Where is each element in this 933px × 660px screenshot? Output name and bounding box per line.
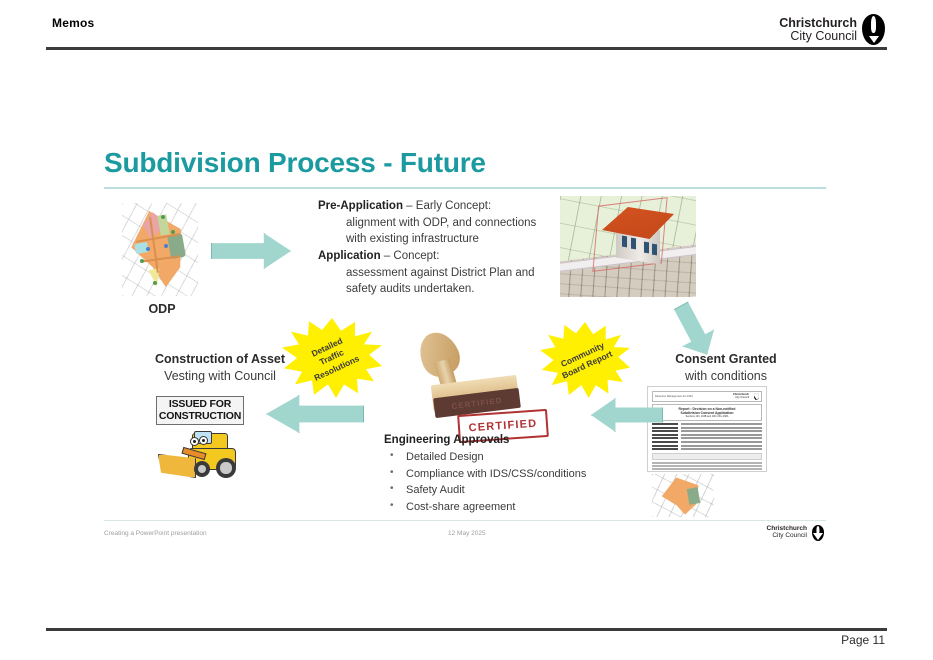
- stamp-pad-text: CERTIFIED: [451, 395, 503, 410]
- odp-label: ODP: [122, 302, 202, 316]
- house-window: [652, 244, 657, 256]
- slide-footer-text: Creating a PowerPoint presentation: [104, 530, 207, 537]
- doc-header-bar: Resource Management Act 1991 Christchurc…: [652, 391, 762, 402]
- doc-logo-line-2: City Council: [735, 397, 749, 400]
- doc-title-line-3: Sections 104, 104B and 108 of the RMA: [686, 415, 729, 418]
- slide-footer-divider: [104, 520, 826, 521]
- map-node-icon: [146, 247, 150, 251]
- application-line3: safety audits undertaken.: [318, 281, 570, 298]
- banner-line-1: ISSUED FOR: [169, 399, 231, 410]
- dozer-eye: [190, 437, 199, 446]
- stamp-impression-text: CERTIFIED: [468, 418, 538, 435]
- header-divider: [46, 47, 887, 50]
- doc-section-heading: [652, 453, 762, 460]
- community-board-report-burst: Community Board Report: [540, 322, 630, 398]
- consent-site-plan-thumbnail: [652, 474, 714, 517]
- pre-application-line3: with existing infrastructure: [318, 231, 570, 248]
- council-emblem-icon: [862, 14, 885, 45]
- doc-field-row: [652, 434, 762, 436]
- application-dash: – Concept:: [381, 250, 440, 262]
- construction-heading: Construction of Asset: [130, 352, 310, 366]
- doc-header-left: Resource Management Act 1991: [655, 395, 693, 398]
- doc-field-row: [652, 427, 762, 429]
- doc-field-rows: [652, 423, 762, 450]
- house-window: [631, 238, 636, 250]
- engineering-approvals-title: Engineering Approvals: [384, 434, 624, 446]
- construction-subheading: Vesting with Council: [130, 369, 310, 383]
- doc-field-row: [652, 445, 762, 447]
- application-text-block: Pre-Application – Early Concept: alignme…: [318, 198, 570, 298]
- slide-logo-line-2: City Council: [772, 533, 807, 540]
- house-window: [644, 242, 649, 254]
- consent-heading: Consent Granted: [636, 352, 816, 366]
- page-number: Page 11: [841, 633, 885, 647]
- doc-council-logo: Christchurch City Council: [733, 393, 759, 400]
- list-item: Cost-share agreement: [384, 499, 624, 516]
- odp-map-thumbnail: [122, 203, 198, 296]
- title-divider: [104, 187, 826, 189]
- map-node-icon: [161, 215, 165, 219]
- slide-image: Subdivision Process - Future ODP Pre-App…: [96, 130, 834, 555]
- application-label: Application: [318, 250, 381, 262]
- subdivision-consent-decision-report: Resource Management Act 1991 Christchurc…: [647, 386, 767, 472]
- engineering-approvals-list: Detailed Design Compliance with IDS/CSS/…: [384, 449, 624, 516]
- list-item: Compliance with IDS/CSS/conditions: [384, 466, 624, 483]
- dozer-wheel: [216, 458, 236, 478]
- map-node-icon: [171, 230, 175, 234]
- dozer-eye: [199, 436, 208, 445]
- banner-line-2: CONSTRUCTION: [159, 411, 241, 422]
- pre-application-line2: alignment with ODP, and connections: [318, 215, 570, 232]
- house-window: [622, 236, 627, 248]
- doc-field-row: [652, 448, 762, 450]
- doc-title: Report : Decision on a Non-notified Subd…: [652, 404, 762, 421]
- application-line2: assessment against District Plan and: [318, 265, 570, 282]
- doc-field-row: [652, 423, 762, 425]
- map-node-icon: [164, 244, 168, 248]
- pre-application-label: Pre-Application: [318, 200, 403, 212]
- slide-title: Subdivision Process - Future: [104, 147, 486, 179]
- issued-for-construction-bulldozer: ISSUED FOR CONSTRUCTION: [150, 392, 248, 487]
- arrow-engineering-to-construction-icon: [266, 395, 364, 433]
- slide-council-emblem-icon: [812, 525, 824, 541]
- page-title: Memos: [52, 16, 94, 30]
- certified-rubber-stamp: CERTIFIED CERTIFIED: [396, 330, 546, 442]
- dozer-wheel: [194, 461, 210, 477]
- slide-footer-date: 12 May 2025: [448, 530, 486, 537]
- list-item: Detailed Design: [384, 449, 624, 466]
- doc-field-row: [652, 437, 762, 439]
- list-item: Safety Audit: [384, 482, 624, 499]
- consent-subheading: with conditions: [636, 369, 816, 383]
- engineering-approvals-block: Engineering Approvals Detailed Design Co…: [384, 434, 624, 516]
- aerial-cadastral-photo-with-house: [560, 196, 696, 297]
- logo-line-1: Christchurch: [779, 17, 857, 30]
- issued-for-construction-banner: ISSUED FOR CONSTRUCTION: [156, 396, 244, 425]
- slide-footer-logo: Christchurch City Council: [767, 525, 824, 541]
- bulldozer-illustration: [158, 428, 242, 482]
- map-node-icon: [153, 281, 157, 285]
- pre-application-dash: – Early Concept:: [403, 200, 491, 212]
- logo-line-2: City Council: [790, 30, 857, 43]
- christchurch-city-council-logo: Christchurch City Council: [779, 14, 885, 45]
- map-node-icon: [140, 259, 144, 263]
- footer-divider: [46, 628, 887, 631]
- doc-field-row: [652, 430, 762, 432]
- doc-council-emblem-icon: [754, 393, 759, 400]
- document-header: Memos Christchurch City Council: [0, 0, 933, 60]
- doc-field-row: [652, 441, 762, 443]
- arrow-odp-to-application-icon: [211, 233, 291, 269]
- doc-paragraph: [652, 462, 762, 472]
